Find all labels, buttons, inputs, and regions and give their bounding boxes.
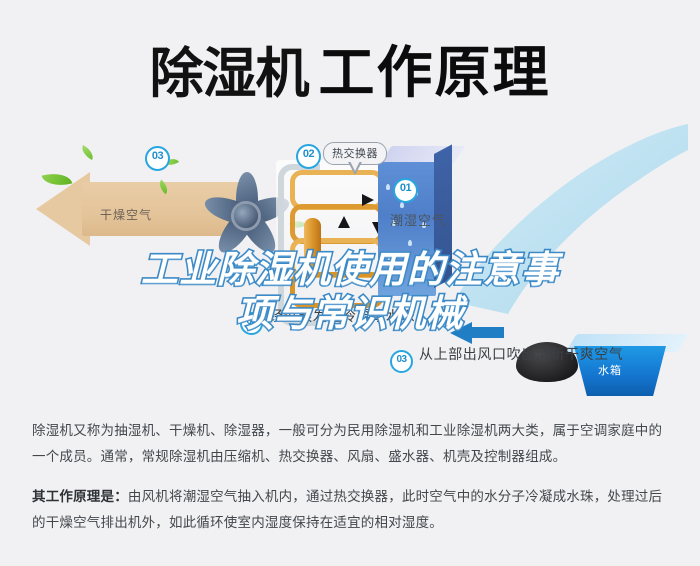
headline-line-2: 项与常识机械 <box>0 292 700 336</box>
page-title-part2: 工作原理 <box>319 41 551 104</box>
headline-overlay: 工业除湿机使用的注意事 项与常识机械 <box>0 248 700 336</box>
body-paragraph-1: 除湿机又称为抽湿机、干燥机、除湿器，一般可分为民用除湿机和工业除湿机两大类，属于… <box>32 418 674 470</box>
humid-air-label: 潮湿空气 <box>390 210 446 229</box>
leaf-icon <box>79 145 96 160</box>
page-title: 除湿机工作原理 <box>0 28 700 109</box>
page-title-part1: 除湿机 <box>150 44 309 104</box>
badge-02: 02 <box>296 144 321 169</box>
callout-pointer-icon <box>348 162 362 175</box>
flow-arrow-right-icon <box>362 194 374 206</box>
page-root: 除湿机工作原理 干燥空气 <box>0 0 700 566</box>
headline-line-1: 工业除湿机使用的注意事 <box>0 248 700 292</box>
step-badge-03: 03 <box>390 350 413 373</box>
badge-03: 03 <box>145 146 170 171</box>
step-text-03: 从上部出风口吹出清新干爽空气 <box>419 346 623 362</box>
flow-arrow-up-icon <box>338 216 350 228</box>
dry-air-label: 干燥空气 <box>100 206 152 223</box>
body-paragraph-2: 其工作原理是：由风机将潮湿空气抽入机内，通过热交换器，此时空气中的水分子冷凝成水… <box>32 484 674 536</box>
badge-01: 01 <box>393 178 418 203</box>
article-body: 除湿机又称为抽湿机、干燥机、除湿器，一般可分为民用除湿机和工业除湿机两大类，属于… <box>32 418 674 550</box>
body-paragraph-2-lead: 其工作原理是： <box>32 489 128 504</box>
step-line-03: 03从上部出风口吹出清新干爽空气 <box>390 344 623 373</box>
